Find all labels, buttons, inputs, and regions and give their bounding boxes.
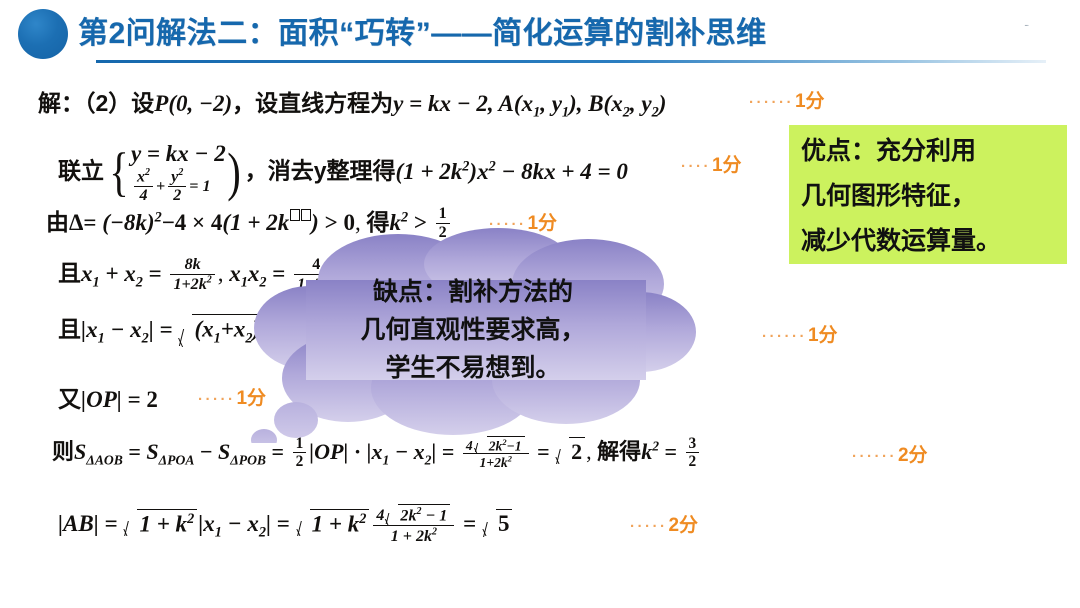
score-value: 2分 bbox=[898, 445, 928, 466]
line2-mid: ，消去y整理得 bbox=[245, 158, 396, 184]
brace-left-icon: { bbox=[109, 150, 128, 196]
cloud-tail-bubble-small bbox=[251, 429, 277, 443]
drawback-line-3: 学生不易想到。 bbox=[248, 349, 698, 387]
equation-system: {y = kx − 2x24+y22= 1) bbox=[106, 140, 243, 206]
line1-mid: ，设直线方程为 bbox=[232, 90, 393, 116]
solution-line-8: |AB| = 1 + k2|x1 − x2| = 1 + k242k2 − 11… bbox=[58, 505, 513, 547]
score-marker-line-8: ·····2分 bbox=[630, 510, 698, 537]
score-marker-line-2: ····1分 bbox=[681, 150, 742, 177]
score-marker-line-5: ······1分 bbox=[762, 320, 838, 347]
missing-glyph-box-2 bbox=[301, 209, 311, 221]
page-title: 第2问解法二：面积“巧转”——简化运算的割补思维 bbox=[78, 8, 767, 52]
drawback-line-1: 缺点：割补方法的 bbox=[248, 273, 698, 311]
score-value: 1分 bbox=[808, 325, 838, 346]
missing-glyph-box-1 bbox=[290, 209, 300, 221]
advantage-line-2: 几何图形特征， bbox=[801, 174, 1067, 219]
solution-line-2: 联立{y = kx − 2x24+y22= 1)，消去y整理得(1 + 2k2)… bbox=[58, 140, 628, 206]
score-leader-dots: ······ bbox=[852, 448, 897, 465]
title-bullet-circle-icon bbox=[18, 9, 68, 59]
corner-mark: ... bbox=[1024, 18, 1028, 28]
line1-prefix: 解：（2）设 bbox=[38, 90, 154, 116]
score-marker-line-7: ······2分 bbox=[852, 440, 928, 467]
advantage-line-3: 减少代数运算量。 bbox=[801, 219, 1067, 264]
brace-right-icon: ) bbox=[227, 150, 241, 196]
advantage-callout-box: 优点：充分利用 几何图形特征， 减少代数运算量。 bbox=[789, 125, 1067, 264]
drawback-cloud-callout: 缺点：割补方法的 几何直观性要求高， 学生不易想到。 bbox=[248, 228, 698, 443]
drawback-line-2: 几何直观性要求高， bbox=[248, 311, 698, 349]
score-leader-dots: ······ bbox=[762, 328, 807, 345]
title-underline-rule bbox=[96, 60, 1046, 63]
score-leader-dots: ····· bbox=[198, 391, 235, 408]
solution-line-1: 解：（2）设P(0, −2)，设直线方程为y = kx − 2, A(x1, y… bbox=[38, 84, 666, 122]
score-marker-line-1: ······1分 bbox=[749, 86, 825, 113]
score-value: 1分 bbox=[795, 91, 825, 112]
advantage-line-1: 优点：充分利用 bbox=[801, 129, 1067, 174]
drawback-text: 缺点：割补方法的 几何直观性要求高， 学生不易想到。 bbox=[248, 273, 698, 387]
line2-label: 联立 bbox=[58, 158, 104, 184]
solution-line-6: 又|OP| = 2 bbox=[58, 380, 158, 414]
score-value: 1分 bbox=[712, 155, 742, 176]
cloud-tail-bubble-large bbox=[274, 402, 318, 438]
score-leader-dots: ····· bbox=[630, 518, 667, 535]
slide-title-bar: 第2问解法二：面积“巧转”——简化运算的割补思维 ... bbox=[0, 0, 1080, 72]
slide-canvas: 第2问解法二：面积“巧转”——简化运算的割补思维 ... 解：（2）设P(0, … bbox=[0, 0, 1080, 608]
score-leader-dots: ······ bbox=[749, 94, 794, 111]
score-value: 2分 bbox=[668, 515, 698, 536]
score-leader-dots: ···· bbox=[681, 158, 711, 175]
